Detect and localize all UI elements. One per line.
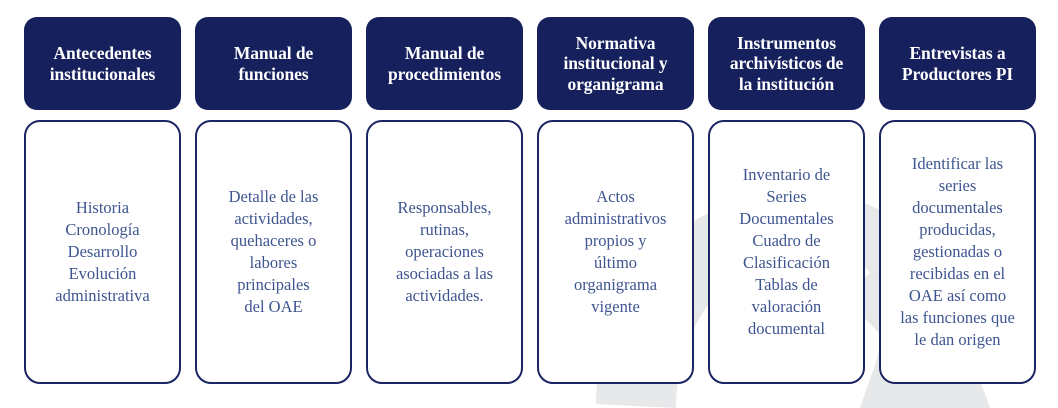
column-gap-5 (708, 110, 865, 120)
column-header-label-6: Entrevistas a Productores PI (902, 43, 1013, 84)
column-header-label-4: Normativa institucional y organigrama (563, 33, 667, 95)
column-body-label-5: Inventario de Series Documentales Cuadro… (739, 164, 833, 340)
column-body-2[interactable]: Detalle de las actividades, quehaceres o… (195, 120, 352, 384)
column-body-label-1: Historia Cronología Desarrollo Evolución… (55, 197, 149, 307)
column-grid: Antecedentes institucionales Historia Cr… (24, 17, 1036, 384)
column-body-5[interactable]: Inventario de Series Documentales Cuadro… (708, 120, 865, 384)
column-instrumentos-archivisticos: Instrumentos archivísticos de la institu… (708, 17, 865, 384)
column-body-label-3: Responsables, rutinas, operaciones asoci… (396, 197, 493, 307)
column-normativa-institucional-y-organigrama: Normativa institucional y organigrama Ac… (537, 17, 694, 384)
column-body-6[interactable]: Identificar las series documentales prod… (879, 120, 1036, 384)
column-gap-6 (879, 110, 1036, 120)
column-header-3[interactable]: Manual de procedimientos (366, 17, 523, 110)
column-header-5[interactable]: Instrumentos archivísticos de la institu… (708, 17, 865, 110)
column-gap-1 (24, 110, 181, 120)
column-body-label-2: Detalle de las actividades, quehaceres o… (229, 186, 319, 318)
column-body-label-6: Identificar las series documentales prod… (900, 153, 1015, 350)
column-body-label-4: Actos administrativos propios y último o… (565, 186, 667, 318)
column-body-1[interactable]: Historia Cronología Desarrollo Evolución… (24, 120, 181, 384)
column-header-label-3: Manual de procedimientos (388, 43, 501, 84)
column-gap-3 (366, 110, 523, 120)
column-gap-4 (537, 110, 694, 120)
column-header-label-5: Instrumentos archivísticos de la institu… (730, 33, 843, 95)
column-antecedentes-institucionales: Antecedentes institucionales Historia Cr… (24, 17, 181, 384)
column-header-2[interactable]: Manual de funciones (195, 17, 352, 110)
column-body-4[interactable]: Actos administrativos propios y último o… (537, 120, 694, 384)
column-header-4[interactable]: Normativa institucional y organigrama (537, 17, 694, 110)
column-body-3[interactable]: Responsables, rutinas, operaciones asoci… (366, 120, 523, 384)
column-header-label-2: Manual de funciones (234, 43, 313, 84)
diagram-canvas: Antecedentes institucionales Historia Cr… (0, 0, 1058, 408)
column-manual-de-funciones: Manual de funciones Detalle de las activ… (195, 17, 352, 384)
column-header-label-1: Antecedentes institucionales (50, 43, 155, 84)
column-header-6[interactable]: Entrevistas a Productores PI (879, 17, 1036, 110)
column-header-1[interactable]: Antecedentes institucionales (24, 17, 181, 110)
column-entrevistas-a-productores: Entrevistas a Productores PI Identificar… (879, 17, 1036, 384)
column-gap-2 (195, 110, 352, 120)
column-manual-de-procedimientos: Manual de procedimientos Responsables, r… (366, 17, 523, 384)
